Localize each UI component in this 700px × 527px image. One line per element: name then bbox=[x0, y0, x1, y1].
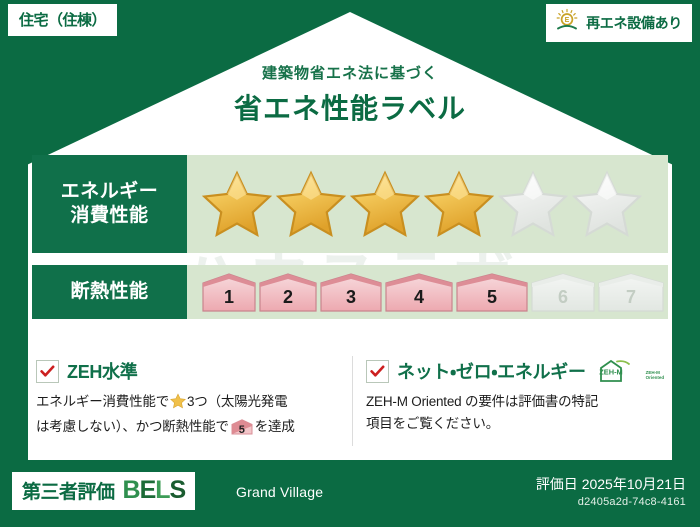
star-rating bbox=[201, 169, 643, 239]
project-name: Grand Village bbox=[236, 484, 323, 500]
label-title: 省エネ性能ラベル bbox=[0, 87, 700, 127]
inline-grade-number: 5 bbox=[231, 421, 253, 439]
energy-key-line1: エネルギー bbox=[61, 180, 159, 204]
insulation-grade-number: 2 bbox=[283, 287, 293, 312]
insulation-grade-filled: 1 bbox=[201, 272, 257, 312]
zeh-standard-title: ZEH水準 bbox=[67, 358, 138, 384]
energy-performance-label: ハウスラボ 住宅（住棟） E 再エネ設備あり 建 bbox=[0, 0, 700, 527]
net-zero-body-line1: ZEH-M Oriented の要件は評価書の特記 bbox=[366, 394, 598, 409]
insulation-grade-empty: 7 bbox=[597, 272, 665, 312]
insulation-grade-empty: 6 bbox=[530, 272, 596, 312]
zeh-m-sub-line2: Oriented bbox=[646, 375, 665, 380]
star-empty-icon bbox=[571, 169, 643, 239]
energy-rating-value bbox=[187, 155, 668, 253]
insulation-grade-scale: 1234567 bbox=[201, 272, 665, 312]
insulation-grade-number: 3 bbox=[346, 287, 356, 312]
zeh-body-part2: 3つ（太陽光発電 bbox=[187, 394, 287, 409]
net-zero-body-line2: 項目をご覧ください。 bbox=[366, 416, 499, 431]
zeh-body-part3: は考慮しない）、かつ断熱性能で bbox=[36, 419, 229, 434]
energy-performance-key: エネルギー 消費性能 bbox=[32, 155, 187, 253]
insulation-grade-number: 5 bbox=[487, 287, 497, 312]
renewable-energy-badge: E 再エネ設備あり bbox=[546, 4, 692, 42]
net-zero-body: ZEH-M Oriented の要件は評価書の特記 項目をご覧ください。 bbox=[366, 391, 666, 436]
zeh-body-part4: を達成 bbox=[255, 419, 295, 434]
evaluation-date: 評価日 2025年10月21日 bbox=[536, 474, 686, 494]
bels-certification-box: 第三者評価 BELS bbox=[12, 472, 195, 510]
star-filled-icon bbox=[423, 169, 495, 239]
net-zero-title: ネット・ゼロ・エネルギー bbox=[397, 358, 586, 384]
criterion-zeh-standard: ZEH水準 エネルギー消費性能で 3つ（太陽光発電 は考慮しない）、かつ断熱性能… bbox=[36, 358, 346, 443]
label-subtitle: 建築物省エネ法に基づく bbox=[0, 62, 700, 83]
insulation-rating-value: 1234567 bbox=[187, 265, 668, 319]
zeh-standard-header: ZEH水準 bbox=[36, 358, 346, 384]
zeh-standard-body: エネルギー消費性能で 3つ（太陽光発電 は考慮しない）、かつ断熱性能で 5 を達… bbox=[36, 391, 346, 443]
star-empty-icon bbox=[497, 169, 569, 239]
insulation-grade-number: 7 bbox=[626, 287, 636, 312]
star-filled-icon bbox=[349, 169, 421, 239]
insulation-grade-filled: 2 bbox=[258, 272, 318, 312]
insulation-grade-filled: 4 bbox=[384, 272, 454, 312]
third-party-eval-label: 第三者評価 bbox=[22, 477, 115, 504]
zeh-m-logo-subtext: ZEH-M Oriented bbox=[646, 370, 665, 383]
check-icon bbox=[36, 360, 59, 383]
inline-grade-badge: 5 bbox=[231, 419, 253, 442]
zeh-body-part1: エネルギー消費性能で bbox=[36, 394, 169, 409]
star-filled-icon bbox=[201, 169, 273, 239]
insulation-grade-filled: 5 bbox=[455, 272, 529, 312]
insulation-grade-number: 4 bbox=[414, 287, 424, 312]
svg-text:E: E bbox=[565, 17, 570, 24]
star-filled-icon bbox=[275, 169, 347, 239]
title-block: 建築物省エネ法に基づく 省エネ性能ラベル bbox=[0, 62, 700, 127]
inline-star-icon bbox=[170, 393, 186, 416]
energy-key-line2: 消費性能 bbox=[70, 204, 148, 228]
criterion-net-zero-energy: ネット・ゼロ・エネルギー ZEH-M ZEH-M Oriented ZEH-M … bbox=[366, 358, 666, 436]
check-icon bbox=[366, 360, 389, 383]
criteria-divider bbox=[352, 356, 353, 446]
energy-performance-row: エネルギー 消費性能 bbox=[32, 155, 668, 253]
building-type-tab: 住宅（住棟） bbox=[8, 4, 117, 36]
insulation-performance-key: 断熱性能 bbox=[32, 265, 187, 319]
solar-sun-icon: E bbox=[554, 8, 580, 37]
insulation-key-line1: 断熱性能 bbox=[70, 280, 148, 304]
bels-logo: BELS bbox=[123, 478, 186, 503]
zeh-m-logo: ZEH-M ZEH-M Oriented bbox=[598, 359, 665, 383]
net-zero-header: ネット・ゼロ・エネルギー ZEH-M ZEH-M Oriented bbox=[366, 358, 666, 384]
insulation-performance-row: 断熱性能 1234567 bbox=[32, 265, 668, 319]
insulation-grade-number: 1 bbox=[224, 287, 234, 312]
evaluation-id: d2405a2d-74c8-4161 bbox=[578, 496, 686, 508]
insulation-grade-number: 6 bbox=[558, 287, 568, 312]
evaluation-date-label: 評価日 bbox=[536, 476, 578, 492]
svg-text:ZEH-M: ZEH-M bbox=[599, 368, 622, 377]
insulation-grade-filled: 3 bbox=[319, 272, 383, 312]
renewable-badge-label: 再エネ設備あり bbox=[586, 13, 682, 33]
label-footer: 第三者評価 BELS Grand Village 評価日 2025年10月21日… bbox=[0, 464, 700, 527]
evaluation-date-value: 2025年10月21日 bbox=[582, 476, 686, 492]
